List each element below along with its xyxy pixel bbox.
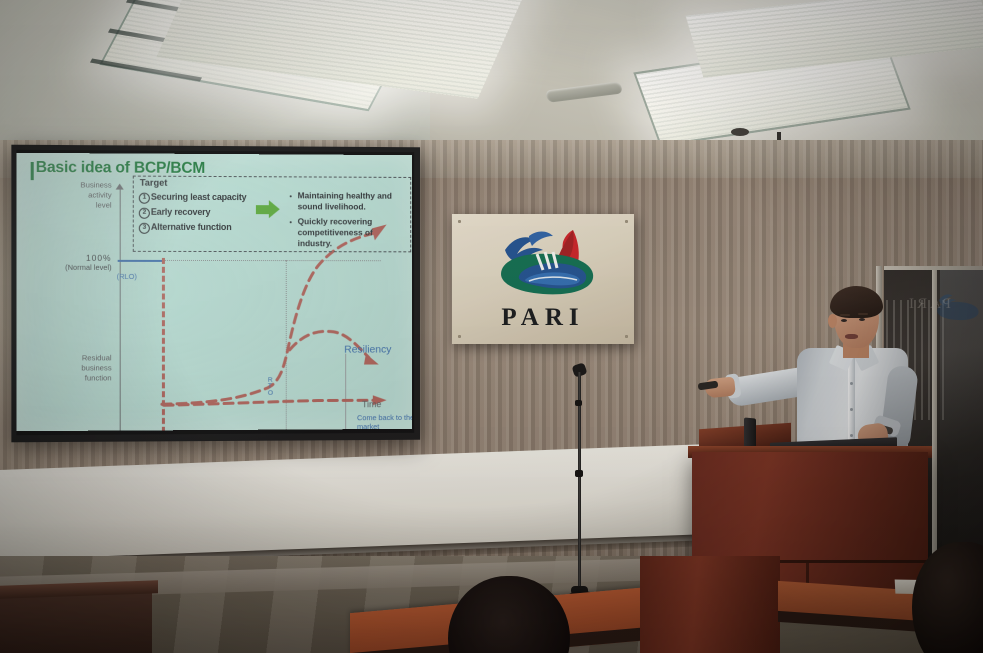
presenter-mouth bbox=[845, 334, 858, 339]
foreground-wooden-panel bbox=[640, 556, 780, 653]
shirt-button-2 bbox=[850, 408, 853, 411]
y-axis-label-line3: level bbox=[67, 200, 111, 210]
target-number-1: 1 bbox=[139, 193, 150, 204]
presenter-eye-right bbox=[859, 318, 865, 321]
rlo-marker-label: (RLO) bbox=[117, 272, 137, 281]
sign-screw-tr bbox=[625, 220, 628, 223]
presentation-slide: Basic idea of BCP/BCM T bbox=[16, 153, 412, 431]
target-item-3: 3Alternative function bbox=[139, 222, 232, 234]
target-item-3-text: Alternative function bbox=[151, 222, 232, 232]
photo-scene: Basic idea of BCP/BCM T bbox=[0, 0, 983, 653]
x-axis-label: Time bbox=[362, 399, 381, 409]
green-arrow-head-icon bbox=[269, 200, 280, 218]
pari-logo-icon bbox=[485, 224, 603, 302]
presenter-brow-left bbox=[840, 314, 850, 316]
pari-wall-sign: PARI bbox=[452, 214, 634, 344]
residual-label: Residual business function bbox=[63, 353, 111, 383]
sign-screw-br bbox=[625, 335, 628, 338]
normal-level-percent: 100% bbox=[55, 253, 112, 263]
green-arrow-body-icon bbox=[256, 205, 270, 214]
sign-screw-bl bbox=[458, 335, 461, 338]
y-axis-label: Business activity level bbox=[67, 180, 111, 210]
annotation-come-back: Come back to the market bbox=[357, 413, 412, 431]
sign-screw-tl bbox=[458, 220, 461, 223]
pari-sign-text: PARI bbox=[452, 304, 634, 332]
rto-marker-label: RTO bbox=[268, 378, 275, 397]
benefit-text-2: Quickly recovering competitiveness of in… bbox=[298, 216, 409, 249]
residual-label-line2: business bbox=[63, 363, 111, 373]
shirt-button-3 bbox=[850, 434, 853, 437]
target-item-2-text: Early recovery bbox=[151, 207, 210, 217]
glass-mullion-top bbox=[884, 266, 983, 270]
normal-level-caption: (Normal level) bbox=[33, 263, 112, 273]
target-number-3: 3 bbox=[139, 223, 150, 234]
presenter-brow-right bbox=[858, 313, 868, 315]
annotation-resiliency: Resiliency bbox=[344, 344, 391, 356]
smoke-detector-icon bbox=[731, 128, 749, 136]
residual-label-line3: function bbox=[63, 373, 111, 383]
target-item-1-text: Securing least capacity bbox=[151, 192, 247, 202]
y-axis-label-line2: activity bbox=[67, 190, 111, 200]
benefit-text-1: Maintaining healthy and sound livelihood… bbox=[298, 190, 407, 212]
microphone-height-knob-lower bbox=[575, 470, 583, 477]
residual-label-line1: Residual bbox=[63, 353, 111, 363]
presenter-ear bbox=[828, 314, 837, 328]
target-heading: Target bbox=[140, 178, 168, 188]
target-item-1: 1Securing least capacity bbox=[139, 192, 247, 204]
benefit-bullet-2-icon bbox=[290, 221, 292, 223]
pari-reflection-text: PARI bbox=[906, 296, 951, 313]
shirt-button-1 bbox=[850, 382, 853, 385]
laptop-lid bbox=[744, 417, 756, 448]
presenter-eye-left bbox=[841, 319, 847, 322]
microphone-height-knob-upper bbox=[575, 400, 582, 406]
target-item-2: 2Early recovery bbox=[139, 207, 210, 219]
benefit-bullet-1-icon bbox=[290, 195, 292, 197]
target-number-2: 2 bbox=[139, 208, 150, 219]
glass-mullion-vertical bbox=[932, 266, 937, 568]
y-axis-label-line1: Business bbox=[67, 180, 111, 190]
